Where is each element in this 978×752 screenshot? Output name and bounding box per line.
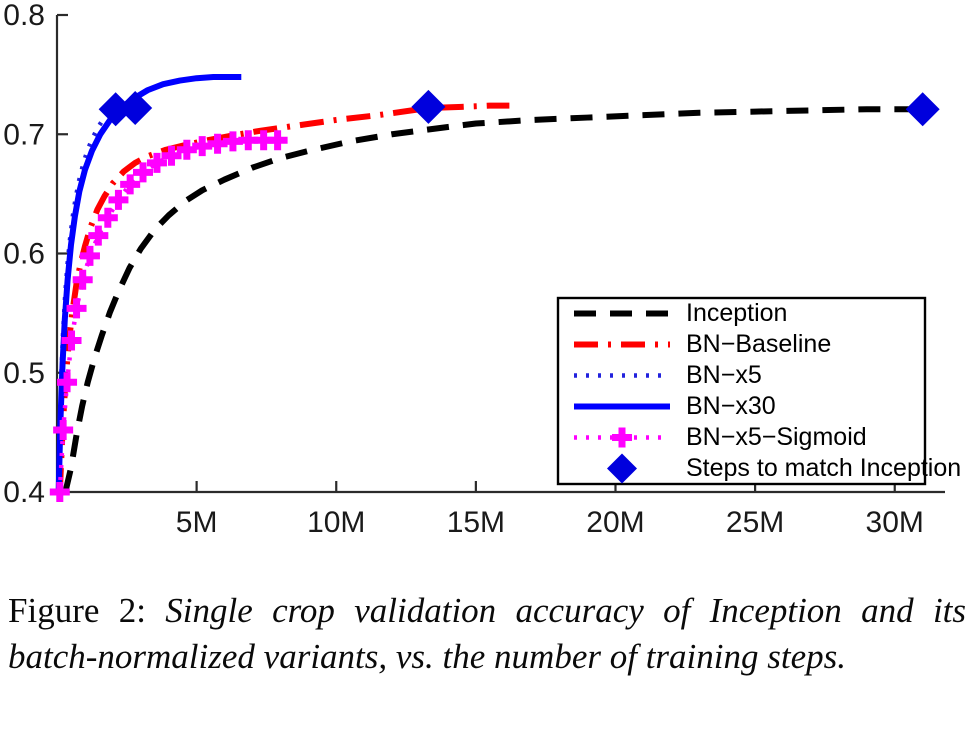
legend-label: BN−x30 xyxy=(686,392,776,420)
plus-marker xyxy=(108,190,128,210)
x-tick-label: 5M xyxy=(176,506,218,539)
x-axis-ticks: 5M10M15M20M25M30M xyxy=(176,481,924,539)
legend-label: BN−Baseline xyxy=(686,330,831,358)
figure-2-container: 0.80.70.60.50.4 5M10M15M20M25M30M Incept… xyxy=(0,0,978,752)
y-tick-label: 0.6 xyxy=(3,238,45,271)
steps-to-match-diamond xyxy=(411,90,445,124)
y-tick-label: 0.5 xyxy=(3,357,45,390)
accuracy-vs-steps-chart: 0.80.70.60.50.4 5M10M15M20M25M30M Incept… xyxy=(0,0,978,560)
x-tick-label: 25M xyxy=(726,506,784,539)
y-tick-label: 0.8 xyxy=(3,0,45,32)
caption-label: Figure 2: xyxy=(8,591,146,630)
caption-body: Single crop validation accuracy of Incep… xyxy=(8,591,966,676)
chart-legend[interactable]: InceptionBN−BaselineBN−x5BN−x30BN−x5−Sig… xyxy=(558,298,961,484)
figure-caption: Figure 2: Single crop validation accurac… xyxy=(8,588,966,680)
x-tick-label: 15M xyxy=(447,506,505,539)
x-tick-label: 10M xyxy=(307,506,365,539)
legend-label: BN−x5−Sigmoid xyxy=(686,423,867,451)
legend-label: Inception xyxy=(686,299,787,327)
plus-marker xyxy=(268,130,288,150)
series-bn-x5-sigmoid xyxy=(60,140,278,492)
y-tick-label: 0.4 xyxy=(3,476,45,509)
y-tick-label: 0.7 xyxy=(3,118,45,151)
steps-to-match-diamond xyxy=(906,92,940,126)
x-tick-label: 20M xyxy=(586,506,644,539)
plot-area: 0.80.70.60.50.4 5M10M15M20M25M30M Incept… xyxy=(0,0,978,560)
plus-markers-bn-x5-sigmoid xyxy=(50,130,288,502)
steps-to-match-diamond xyxy=(118,91,152,125)
series-bn-baseline xyxy=(60,106,510,492)
plus-marker xyxy=(88,226,108,246)
plus-marker xyxy=(120,174,140,194)
legend-label: BN−x5 xyxy=(686,361,762,389)
plus-marker xyxy=(98,208,118,228)
legend-label: Steps to match Inception xyxy=(686,454,961,482)
x-tick-label: 30M xyxy=(866,506,924,539)
